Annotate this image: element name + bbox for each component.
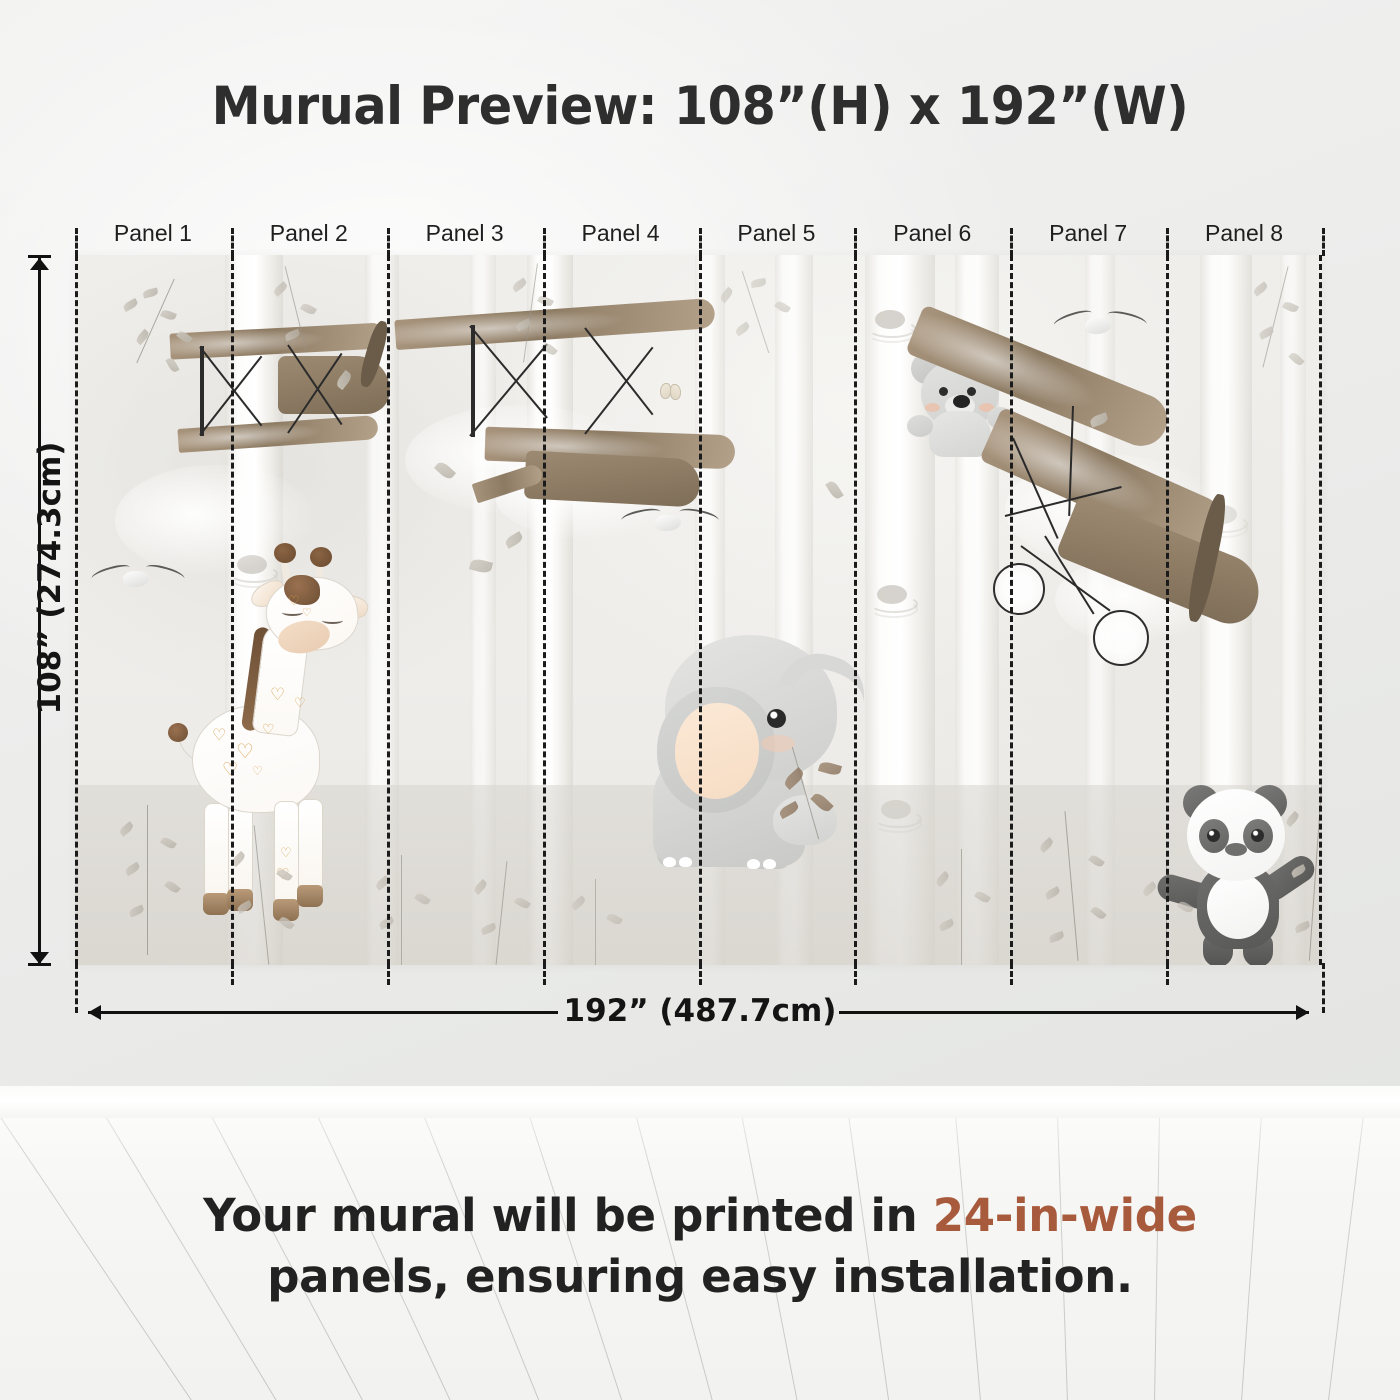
leaf xyxy=(236,900,253,914)
panel-label-8: Panel 8 xyxy=(1166,216,1322,250)
leaf xyxy=(1252,281,1269,296)
leaf xyxy=(606,912,623,926)
panda-eye-left xyxy=(1207,829,1220,842)
leaf xyxy=(118,821,135,837)
seam-tick-bottom xyxy=(1166,963,1169,985)
leaf xyxy=(1177,900,1194,915)
giraffe-heart-pattern: ♡ xyxy=(212,727,226,743)
panel-label-7: Panel 7 xyxy=(1010,216,1166,250)
panda-nose xyxy=(1225,843,1247,856)
panel-seam-4 xyxy=(699,255,702,965)
leaf xyxy=(778,801,800,819)
leaf xyxy=(472,879,488,895)
leaf xyxy=(480,923,497,936)
giraffe-heart-pattern: ♡ xyxy=(270,687,285,704)
leaf xyxy=(276,867,293,882)
leaf xyxy=(1090,905,1107,921)
leaf xyxy=(142,288,158,299)
leaf xyxy=(278,915,295,931)
panel-label-5: Panel 5 xyxy=(699,216,855,250)
leaf xyxy=(1284,811,1300,827)
birch-knot xyxy=(875,310,905,329)
caption-line-1-text: Your mural will be printed in xyxy=(203,1189,933,1242)
mural-preview-image[interactable]: ♡ ♡ ♡ ♡ ♡ ♡ ♡ ♡ ♡ ♡ ♡ xyxy=(75,255,1322,965)
panel-label-6: Panel 6 xyxy=(854,216,1010,250)
footer-caption: Your mural will be printed in 24-in-wide… xyxy=(0,1186,1400,1308)
leaf xyxy=(128,904,145,917)
giraffe-eye-right xyxy=(322,617,343,624)
elephant-toe xyxy=(747,859,760,869)
leaf xyxy=(514,896,531,911)
leaf xyxy=(570,895,587,911)
leaf xyxy=(938,918,955,931)
wing-strut xyxy=(471,325,475,437)
leaf xyxy=(1088,853,1105,868)
panel-label-3: Panel 3 xyxy=(387,216,543,250)
panel-label-1: Panel 1 xyxy=(75,216,231,250)
leaf xyxy=(160,836,177,851)
panel-seam-6 xyxy=(1010,255,1013,965)
leaf xyxy=(284,329,301,342)
leaf xyxy=(1290,864,1307,878)
giraffe-heart-pattern: ♡ xyxy=(262,723,275,737)
foliage-sprig xyxy=(695,269,835,389)
leaf xyxy=(165,357,179,374)
seam-tick-top xyxy=(231,228,234,256)
panel-label-2: Panel 2 xyxy=(231,216,387,250)
elephant-toe xyxy=(679,857,692,867)
baseboard xyxy=(0,1086,1400,1120)
leaf xyxy=(719,287,735,304)
caption-line-1: Your mural will be printed in 24-in-wide xyxy=(0,1186,1400,1247)
sprig-stem xyxy=(523,263,538,362)
giraffe-heart-pattern: ♡ xyxy=(294,697,306,710)
giraffe-tail-tuft xyxy=(168,723,188,742)
mural-edge-right xyxy=(1319,255,1322,965)
caption-accent-text: 24-in-wide xyxy=(933,1189,1197,1242)
elephant-eye xyxy=(767,709,786,728)
giraffe-horn-tip-right xyxy=(310,547,332,567)
sprig-stem xyxy=(254,825,270,964)
seam-tick-top xyxy=(854,228,857,256)
foliage-sprig xyxy=(95,275,215,385)
leaf xyxy=(1141,881,1158,897)
seam-tick-bottom xyxy=(854,963,857,985)
ground-shrub xyxy=(545,875,655,965)
sprig-stem xyxy=(595,879,596,965)
butterfly xyxy=(660,383,682,401)
biplane-lower-wing xyxy=(177,415,378,453)
leaf xyxy=(176,329,193,345)
seam-tick-bottom xyxy=(387,963,390,985)
leaf xyxy=(1288,351,1304,367)
sprig-stem xyxy=(1262,266,1289,367)
panel-seam-5 xyxy=(854,255,857,965)
leaf xyxy=(1294,921,1311,934)
seam-tick-bottom xyxy=(543,963,546,985)
room-wall: Murual Preview: 108”(H) x 192”(W) Panel … xyxy=(0,0,1400,1118)
leaf xyxy=(124,862,141,876)
giraffe-eye-left xyxy=(282,609,303,616)
ground-shrub xyxy=(1120,855,1220,965)
foliage-sprig xyxy=(255,265,355,375)
butterfly-wing-right xyxy=(670,384,681,400)
leaf xyxy=(511,277,528,292)
leaf xyxy=(300,302,317,316)
leaf xyxy=(974,889,991,904)
height-dimension-label: 108” (274.3cm) xyxy=(32,408,68,748)
sprig-stem xyxy=(496,861,508,965)
leaf xyxy=(1038,837,1055,853)
ground-shrub xyxy=(195,815,335,965)
elephant-toe xyxy=(663,857,676,867)
leaf xyxy=(1048,931,1065,943)
seam-tick-top xyxy=(1322,228,1325,256)
leaf xyxy=(122,298,139,312)
leaf xyxy=(810,791,833,814)
leaf xyxy=(1282,300,1299,314)
leaf xyxy=(515,318,532,331)
giraffe-heart-pattern: ♡ xyxy=(252,765,263,777)
leaf xyxy=(1044,886,1061,900)
sprig-stem xyxy=(401,855,402,965)
giraffe-heart-pattern: ♡ xyxy=(288,595,300,608)
sprig-stem xyxy=(961,849,962,965)
width-dimension-label: 192” (487.7cm) xyxy=(0,993,1400,1029)
leaf xyxy=(774,299,791,314)
seam-tick-top xyxy=(75,228,78,256)
seam-tick-top xyxy=(387,228,390,256)
landing-wheel-left xyxy=(993,563,1045,615)
seam-tick-bottom xyxy=(699,963,702,985)
leaf xyxy=(1258,326,1275,340)
ground-shrub xyxy=(765,745,875,855)
seam-tick-top xyxy=(699,228,702,256)
elephant-toe xyxy=(763,859,776,869)
sprig-stem xyxy=(147,805,148,955)
leaf xyxy=(164,879,181,895)
giraffe-heart-pattern: ♡ xyxy=(302,607,312,618)
leaf xyxy=(751,278,767,288)
seam-tick-top xyxy=(1010,228,1013,256)
leaf xyxy=(272,281,289,297)
seam-tick-top xyxy=(1166,228,1169,256)
vdim-cap-bottom xyxy=(28,963,51,966)
caption-line-2: panels, ensuring easy installation. xyxy=(0,1247,1400,1308)
panel-label-4: Panel 4 xyxy=(543,216,699,250)
leaf xyxy=(734,321,751,336)
page-title: Murual Preview: 108”(H) x 192”(W) xyxy=(49,76,1351,137)
panel-seam-3 xyxy=(543,255,546,965)
seam-tick-bottom xyxy=(231,963,234,985)
panel-seam-2 xyxy=(387,255,390,965)
leaf xyxy=(818,760,842,777)
sprig-stem xyxy=(1064,811,1078,961)
panel-seam-1 xyxy=(231,255,234,965)
leaf xyxy=(414,891,431,906)
ground-shrub xyxy=(1255,775,1322,965)
leaf xyxy=(160,308,177,321)
foliage-sprig xyxy=(1225,265,1322,395)
giraffe-horn-tip-left xyxy=(274,543,296,563)
seam-tick-bottom xyxy=(1010,963,1013,985)
seam-tick-top xyxy=(543,228,546,256)
biplane-fuselage xyxy=(524,450,701,507)
landing-wheel-right xyxy=(1093,610,1149,666)
giraffe-heart-pattern: ♡ xyxy=(236,741,254,761)
leaf xyxy=(934,871,950,887)
mural-edge-left xyxy=(75,255,78,965)
biplane-right xyxy=(845,345,1265,675)
panel-seam-7 xyxy=(1166,255,1169,965)
